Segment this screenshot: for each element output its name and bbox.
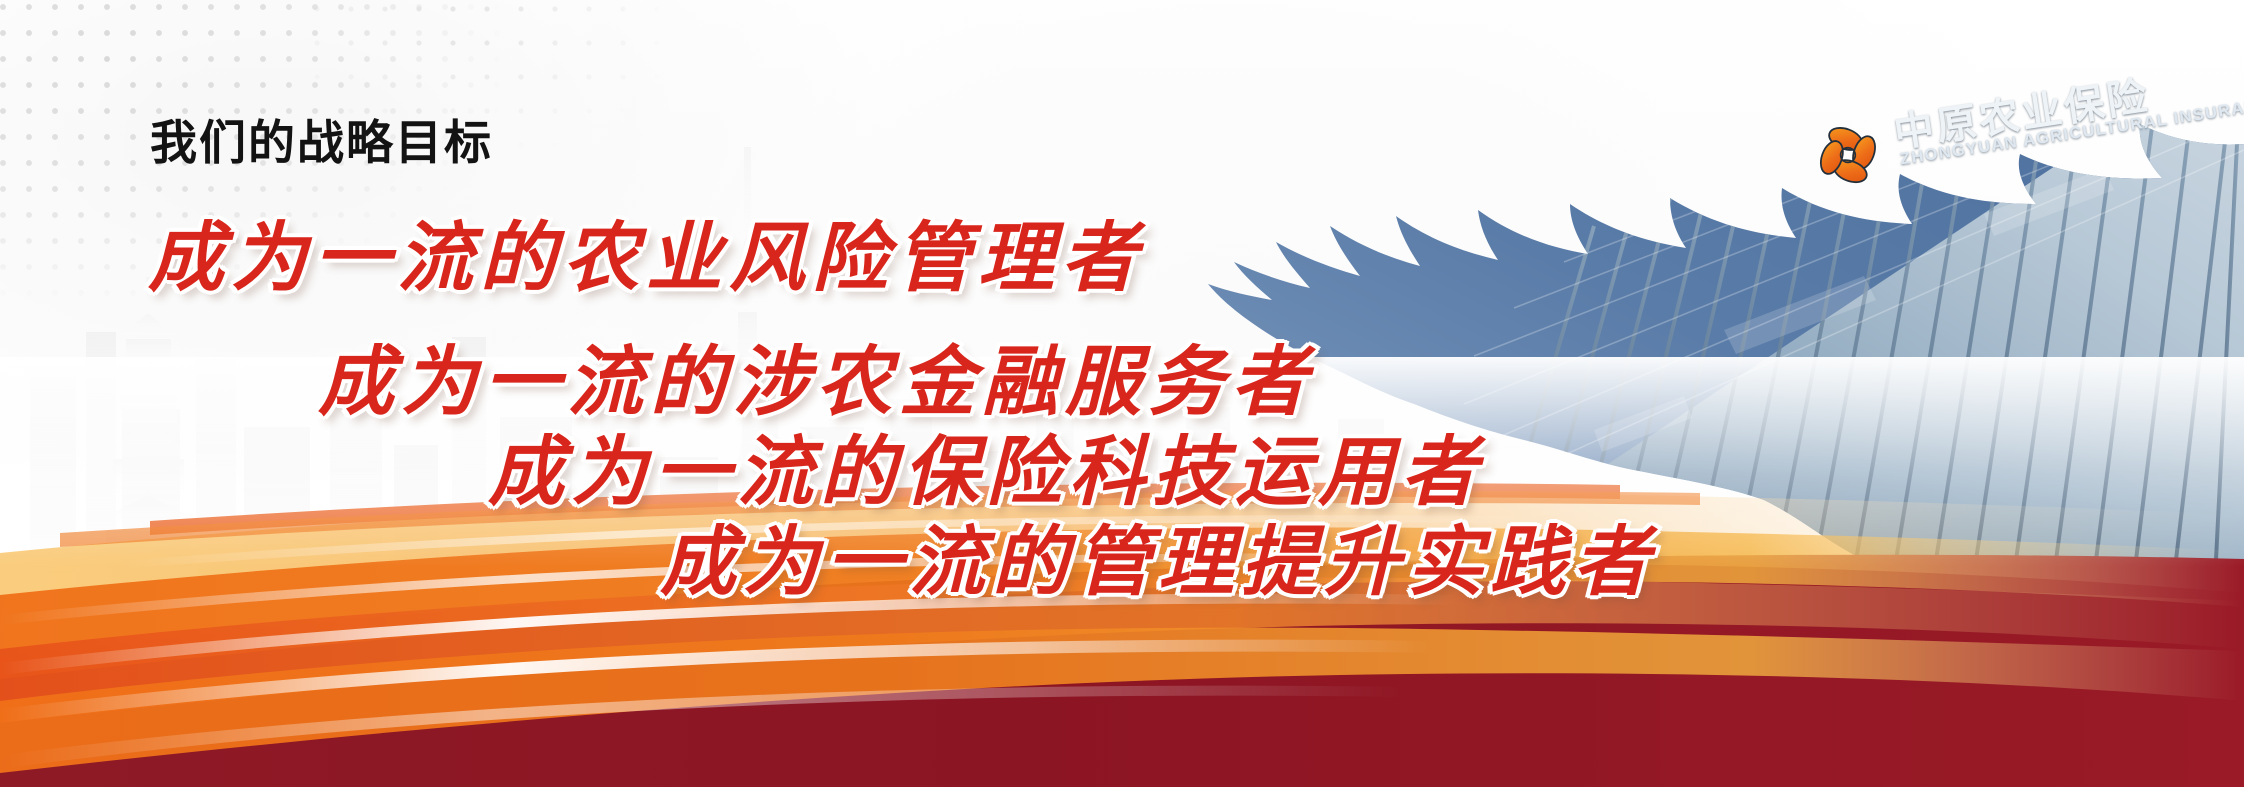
text-layer: 我们的战略目标 成为一流的农业风险管理者 成为一流的涉农金融服务者 成为一流的保… xyxy=(0,0,2244,787)
slogan-line-1: 成为一流的农业风险管理者 xyxy=(148,196,1144,306)
strategic-goals-banner: 中原农业保险 ZHONGYUAN AGRICULTURAL INSURANCE xyxy=(0,0,2244,787)
page-title: 我们的战略目标 xyxy=(150,104,493,173)
slogan-line-4: 成为一流的管理提升实践者 xyxy=(660,500,1656,610)
